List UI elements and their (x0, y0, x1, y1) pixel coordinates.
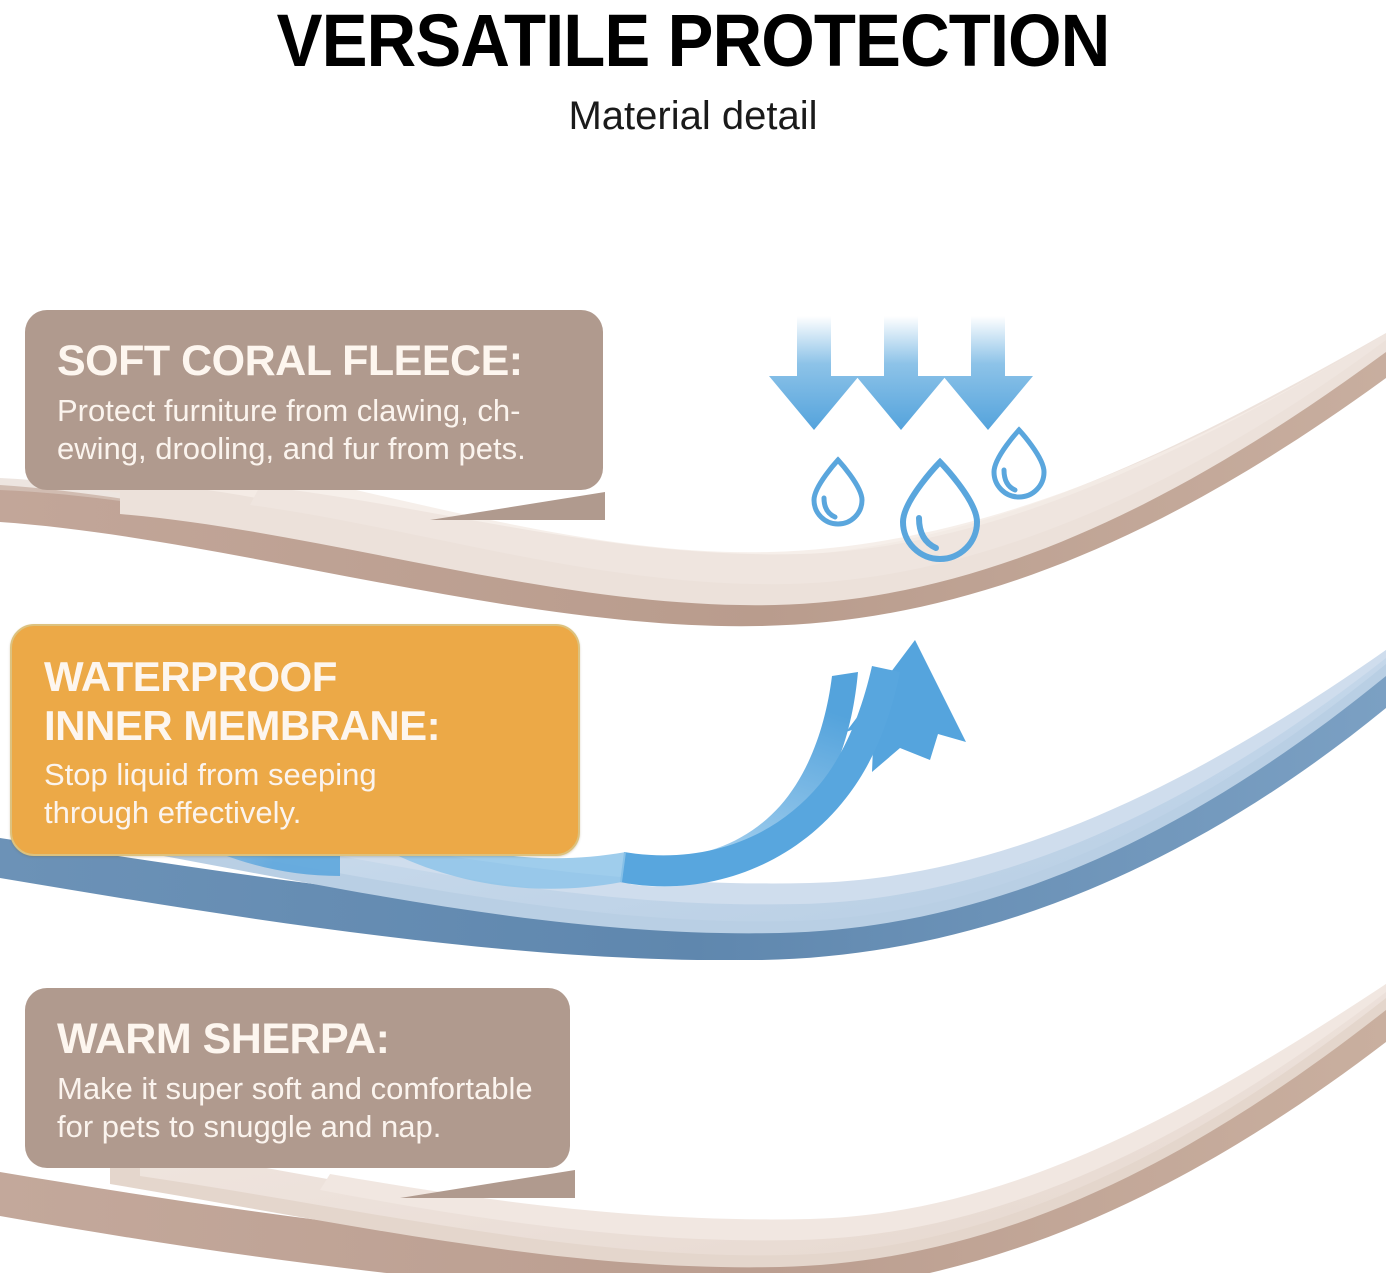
down-arrow-icon (943, 316, 1033, 430)
header: VERSATILE PROTECTION Material detail (0, 0, 1386, 138)
arrow-head (846, 640, 966, 772)
callout-title-coral-fleece: SOFT CORAL FLEECE: (57, 336, 573, 386)
page-subtitle: Material detail (0, 80, 1386, 138)
water-droplet-icon (994, 430, 1044, 497)
down-arrow-icon (769, 316, 859, 430)
callout-body-warm-sherpa: Make it super soft and comfortable for p… (57, 1064, 540, 1146)
water-droplet-icon (814, 460, 862, 524)
callout-tail-fleece (430, 492, 605, 520)
water-droplet-icon (903, 462, 977, 559)
callout-body-waterproof-membrane: Stop liquid from seeping through effecti… (44, 750, 548, 832)
callout-waterproof-membrane[interactable]: WATERPROOF INNER MEMBRANE: Stop liquid f… (10, 624, 580, 856)
callout-body-coral-fleece: Protect furniture from clawing, ch- ewin… (57, 386, 573, 468)
infographic-canvas: VERSATILE PROTECTION Material detail (0, 0, 1386, 1273)
callout-warm-sherpa[interactable]: WARM SHERPA: Make it super soft and comf… (25, 988, 570, 1168)
down-arrow-icon (856, 316, 946, 430)
page-title: VERSATILE PROTECTION (49, 0, 1338, 80)
down-arrow-icon-group (769, 316, 1033, 430)
callout-title-warm-sherpa: WARM SHERPA: (57, 1014, 540, 1064)
callout-coral-fleece[interactable]: SOFT CORAL FLEECE: Protect furniture fro… (25, 310, 603, 490)
callout-title-waterproof-membrane: WATERPROOF INNER MEMBRANE: (44, 652, 548, 750)
water-droplet-icon-group (814, 430, 1044, 559)
callout-tail-sherpa (400, 1170, 575, 1198)
